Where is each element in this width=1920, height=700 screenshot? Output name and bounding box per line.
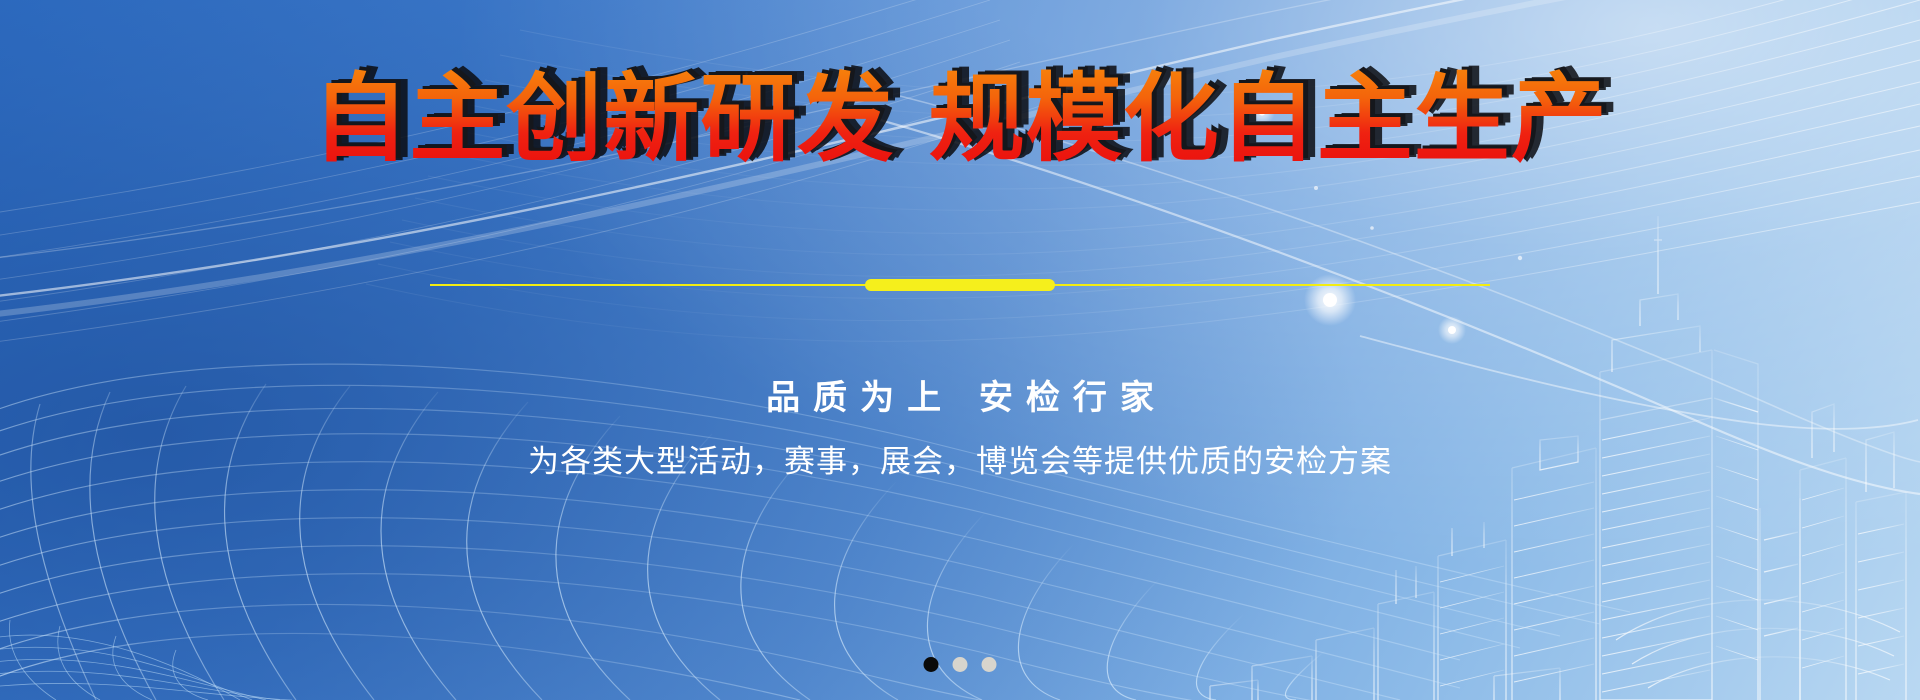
banner-main-title: 自主创新研发 规模化自主生产 bbox=[312, 66, 1607, 174]
carousel-dot-3[interactable] bbox=[982, 657, 997, 672]
banner-title-container: 自主创新研发 规模化自主生产 bbox=[0, 66, 1920, 174]
divider-center-knob bbox=[865, 279, 1055, 291]
hero-banner: 自主创新研发 规模化自主生产 品质为上 安检行家 为各类大型活动，赛事，展会，博… bbox=[0, 0, 1920, 700]
carousel-dot-2[interactable] bbox=[953, 657, 968, 672]
yellow-divider bbox=[430, 278, 1490, 292]
carousel-pagination[interactable] bbox=[924, 657, 997, 672]
banner-subtitle-secondary: 为各类大型活动，赛事，展会，博览会等提供优质的安检方案 bbox=[0, 442, 1920, 482]
banner-subtitle-container: 品质为上 安检行家 为各类大型活动，赛事，展会，博览会等提供优质的安检方案 bbox=[0, 376, 1920, 482]
carousel-dot-1[interactable] bbox=[924, 657, 939, 672]
banner-subtitle-primary: 品质为上 安检行家 bbox=[0, 376, 1920, 420]
